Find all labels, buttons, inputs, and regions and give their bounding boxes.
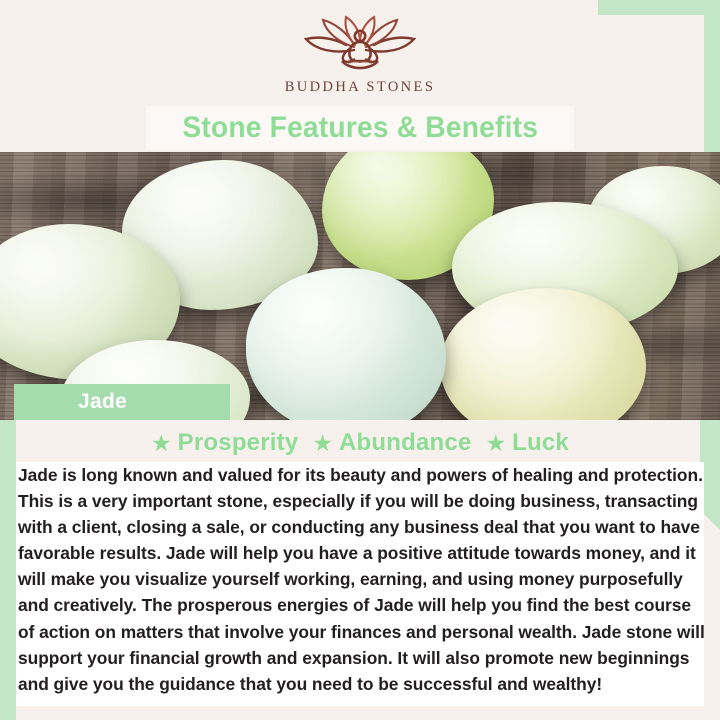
title-banner: Stone Features & Benefits — [146, 106, 574, 150]
infographic-page: BUDDHA STONES Stone Features & Benefits … — [0, 0, 720, 720]
brand-logo: BUDDHA STONES — [285, 14, 436, 96]
benefit-item: ★ Abundance — [312, 429, 471, 457]
benefit-item: ★ Luck — [486, 429, 569, 457]
lotus-meditation-figure-icon — [294, 14, 426, 76]
benefit-label: Luck — [512, 429, 569, 457]
star-icon: ★ — [312, 432, 333, 455]
jade-stones-photo — [0, 152, 720, 420]
stone-name-label: Jade — [78, 390, 127, 414]
brand-name: BUDDHA STONES — [285, 79, 436, 96]
stone-name-band: Jade — [14, 384, 230, 420]
star-icon: ★ — [486, 432, 507, 455]
brand-header: BUDDHA STONES — [0, 0, 720, 110]
benefit-label: Prosperity — [178, 429, 299, 457]
benefits-row: ★ Prosperity ★ Abundance ★ Luck — [0, 424, 720, 462]
page-title: Stone Features & Benefits — [182, 111, 538, 145]
description-text: Jade is long known and valued for its be… — [16, 462, 708, 697]
star-icon: ★ — [151, 432, 172, 455]
benefit-label: Abundance — [339, 429, 471, 457]
benefit-item: ★ Prosperity — [151, 429, 298, 457]
